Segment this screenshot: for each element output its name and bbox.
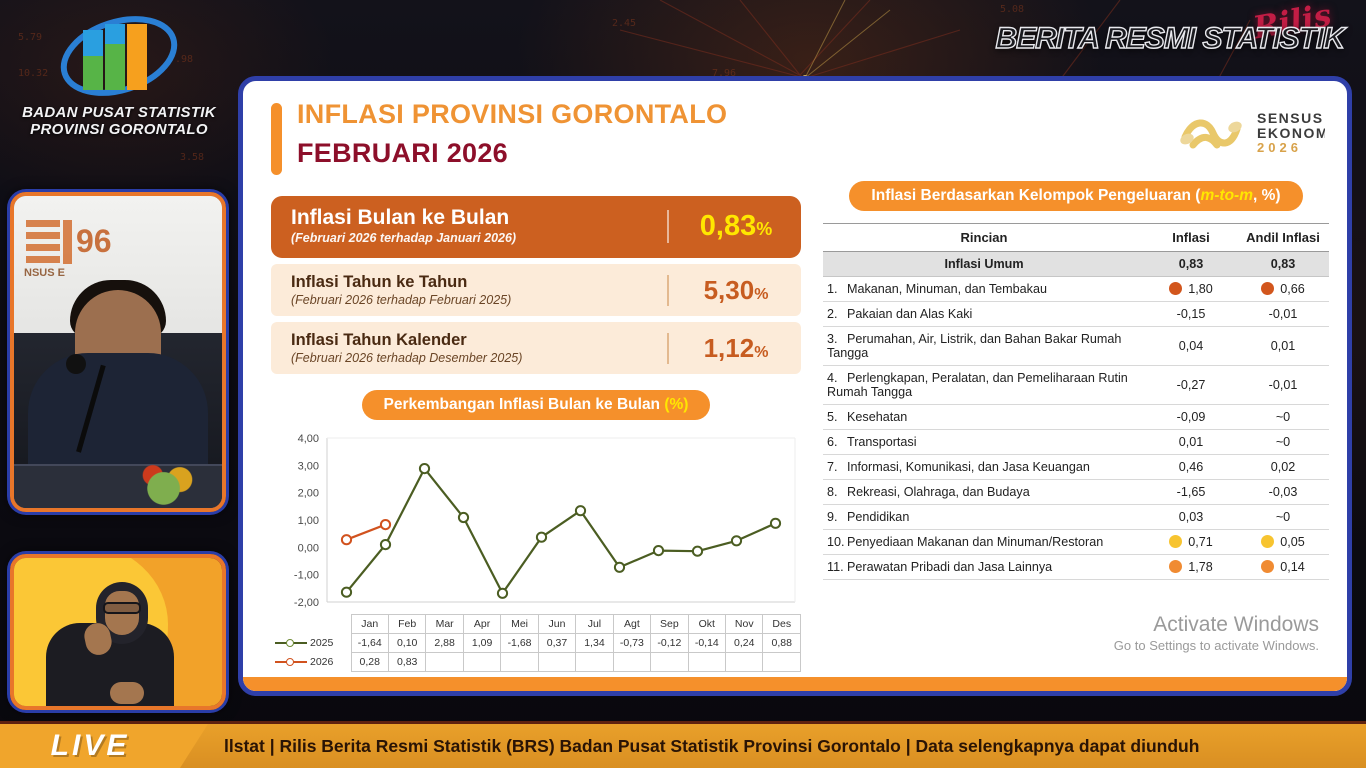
chart-table-month-header: Jul	[576, 615, 613, 634]
chart-data-point-2025	[420, 464, 429, 473]
group-table-row: 11.Perawatan Pribadi dan Jasa Lainnya1,7…	[823, 555, 1329, 580]
group-index: 2.	[827, 307, 847, 321]
column-header-andil: Andil Inflasi	[1237, 224, 1329, 252]
chart-y-tick-label: -2,00	[294, 597, 319, 609]
group-table-row: 8.Rekreasi, Olahraga, dan Budaya-1,65-0,…	[823, 480, 1329, 505]
svg-text:3.58: 3.58	[180, 152, 204, 163]
chart-table-month-header: Mei	[501, 615, 538, 634]
chart-table-cell	[763, 653, 801, 672]
chart-data-point-2025	[342, 588, 351, 597]
kpi-value: 1,12%	[667, 333, 785, 364]
chart-table-cell: 1,34	[576, 634, 613, 653]
live-ticker-bar: LIVE llstat | Rilis Berita Resmi Statist…	[0, 724, 1366, 768]
chart-table-cell: -1,64	[351, 634, 388, 653]
sensus-ekonomi-logo-icon: SENSUS EKONOMI 2026	[1173, 103, 1325, 155]
chart-table-cell: 0,10	[388, 634, 425, 653]
group-table-row: 7.Informasi, Komunikasi, dan Jasa Keuang…	[823, 455, 1329, 480]
sign-language-interpreter-feed[interactable]	[10, 554, 226, 710]
group-inflasi-cell: 1,80	[1145, 277, 1237, 302]
legend-spacer	[271, 615, 351, 634]
group-table-row: 1.Makanan, Minuman, dan Tembakau1,800,66	[823, 277, 1329, 302]
legend-marker-icon	[275, 657, 307, 667]
inflation-indicator-dot	[1169, 560, 1182, 573]
chart-table-series-row: 20260,280,83	[271, 653, 801, 672]
group-inflasi-cell: 0,71	[1145, 530, 1237, 555]
group-inflasi-cell: -0,15	[1145, 302, 1237, 327]
group-andil-cell: ~0	[1237, 430, 1329, 455]
group-inflasi-cell: 0,04	[1145, 327, 1237, 366]
group-andil-cell: ~0	[1237, 505, 1329, 530]
bps-brand-block: BADAN PUSAT STATISTIK PROVINSI GORONTALO	[0, 6, 238, 138]
group-andil-cell: ~0	[1237, 405, 1329, 430]
expenditure-group-table: Rincian Inflasi Andil Inflasi Inflasi Um…	[823, 223, 1329, 580]
live-label: LIVE	[51, 729, 130, 763]
chart-table-cell: 0,24	[726, 634, 763, 653]
group-name-cell: 2.Pakaian dan Alas Kaki	[823, 302, 1145, 327]
chart-y-tick-label: 2,00	[298, 488, 319, 500]
group-name-cell: 11.Perawatan Pribadi dan Jasa Lainnya	[823, 555, 1145, 580]
bps-logo-icon	[53, 10, 185, 102]
group-andil-cell: 0,66	[1237, 277, 1329, 302]
chart-table-cell	[651, 653, 688, 672]
kpi-value: 0,83%	[667, 210, 785, 243]
chart-data-point-2026	[381, 520, 390, 529]
total-inflasi: 0,83	[1145, 252, 1237, 277]
svg-text:2026: 2026	[1257, 140, 1302, 155]
group-table-row: 4.Perlengkapan, Peralatan, dan Pemelihar…	[823, 366, 1329, 405]
group-table-row: 3.Perumahan, Air, Listrik, dan Bahan Bak…	[823, 327, 1329, 366]
svg-text:NSUS E: NSUS E	[24, 267, 65, 279]
chart-y-tick-label: 3,00	[298, 460, 319, 472]
group-name-cell: 3.Perumahan, Air, Listrik, dan Bahan Bak…	[823, 327, 1145, 366]
svg-text:5.08: 5.08	[1000, 4, 1024, 15]
chart-data-point-2025	[498, 589, 507, 598]
chart-y-tick-label: -1,00	[294, 570, 319, 582]
ticker-message: llstat | Rilis Berita Resmi Statistik (B…	[224, 736, 1199, 757]
chart-table-month-header: Apr	[463, 615, 500, 634]
group-index: 5.	[827, 410, 847, 424]
group-index: 4.	[827, 371, 847, 385]
chart-table-series-row: 2025-1,640,102,881,09-1,680,371,34-0,73-…	[271, 634, 801, 653]
group-name-cell: 1.Makanan, Minuman, dan Tembakau	[823, 277, 1145, 302]
group-index: 9.	[827, 510, 847, 524]
chart-data-point-2025	[381, 540, 390, 549]
chart-table-cell	[688, 653, 725, 672]
group-index: 3.	[827, 332, 847, 346]
group-table-total-row: Inflasi Umum0,830,83	[823, 252, 1329, 277]
chart-data-point-2025	[771, 519, 780, 528]
kpi-card-calendar-year: Inflasi Tahun Kalender (Februari 2026 te…	[271, 322, 801, 374]
total-label: Inflasi Umum	[823, 252, 1145, 277]
chart-table-month-header: Feb	[388, 615, 425, 634]
svg-text:EKONOMI: EKONOMI	[1257, 125, 1325, 141]
chart-y-tick-label: 4,00	[298, 433, 319, 445]
chart-table-month-header: Sep	[651, 615, 688, 634]
chart-data-point-2025	[732, 536, 741, 545]
legend-marker-icon	[275, 638, 307, 648]
group-name-cell: 6.Transportasi	[823, 430, 1145, 455]
contribution-indicator-dot	[1261, 560, 1274, 573]
group-index: 10.	[827, 535, 847, 549]
group-inflasi-cell: -0,09	[1145, 405, 1237, 430]
group-andil-cell: -0,01	[1237, 366, 1329, 405]
chart-data-table: JanFebMarAprMeiJunJulAgtSepOktNovDes 202…	[271, 614, 801, 672]
chart-table-month-header: Agt	[613, 615, 650, 634]
table-header-row: JanFebMarAprMeiJunJulAgtSepOktNovDes	[271, 615, 801, 634]
chart-data-point-2025	[615, 563, 624, 572]
kpi-sublabel: (Februari 2026 terhadap Desember 2025)	[291, 351, 522, 365]
chart-table-cell: -0,73	[613, 634, 650, 653]
chart-table-cell: -0,12	[651, 634, 688, 653]
kpi-value: 5,30%	[667, 275, 785, 306]
column-header-rincian: Rincian	[823, 224, 1145, 252]
kpi-card-month-to-month: Inflasi Bulan ke Bulan (Februari 2026 te…	[271, 196, 801, 258]
contribution-indicator-dot	[1261, 282, 1274, 295]
chart-table-cell: 1,09	[463, 634, 500, 653]
program-title: BERITA RESMI STATISTIK	[995, 22, 1344, 56]
chart-table-month-header: Jun	[538, 615, 575, 634]
chart-table-cell	[726, 653, 763, 672]
left-panel: Inflasi Bulan ke Bulan (Februari 2026 te…	[271, 196, 801, 672]
group-index: 8.	[827, 485, 847, 499]
group-table-row: 2.Pakaian dan Alas Kaki-0,15-0,01	[823, 302, 1329, 327]
chart-series-line-2026	[347, 525, 386, 540]
group-andil-cell: -0,03	[1237, 480, 1329, 505]
watermark-subtitle: Go to Settings to activate Windows.	[1114, 638, 1319, 653]
chart-legend-entry: 2026	[271, 653, 351, 672]
group-table-row: 6.Transportasi0,01~0	[823, 430, 1329, 455]
group-name-cell: 10.Penyediaan Makanan dan Minuman/Restor…	[823, 530, 1145, 555]
group-table-header-row: Rincian Inflasi Andil Inflasi	[823, 224, 1329, 252]
chart-table-cell: 0,83	[388, 653, 425, 672]
speaker-video-feed[interactable]: 96 NSUS E	[10, 192, 226, 512]
group-name-cell: 9.Pendidikan	[823, 505, 1145, 530]
broadcast-stage: 5.79 10.32 .98 3.58 2.45 7.96 5.08 BADAN…	[0, 0, 1366, 768]
kpi-sublabel: (Februari 2026 terhadap Februari 2025)	[291, 293, 511, 307]
kpi-label: Inflasi Tahun ke Tahun	[291, 273, 511, 291]
group-andil-cell: 0,05	[1237, 530, 1329, 555]
backdrop-sensus-logo-icon: 96 NSUS E	[22, 212, 132, 282]
contribution-indicator-dot	[1261, 535, 1274, 548]
chart-table-month-header: Des	[763, 615, 801, 634]
chart-table-cell	[613, 653, 650, 672]
brand-line-1: BADAN PUSAT STATISTIK	[0, 104, 238, 121]
windows-activation-watermark: Activate Windows Go to Settings to activ…	[1114, 613, 1319, 653]
group-andil-cell: -0,01	[1237, 302, 1329, 327]
svg-text:96: 96	[76, 223, 112, 259]
group-name-cell: 5.Kesehatan	[823, 405, 1145, 430]
chart-data-point-2025	[654, 546, 663, 555]
title-accent-bar	[271, 103, 282, 175]
chart-title-pill: Perkembangan Inflasi Bulan ke Bulan (%)	[362, 390, 711, 420]
chart-table-cell: 0,37	[538, 634, 575, 653]
inflation-line-chart: 4,003,002,001,000,00-1,00-2,00	[271, 430, 801, 612]
card-bottom-strip	[243, 677, 1347, 691]
group-table-title-pill: Inflasi Berdasarkan Kelompok Pengeluaran…	[849, 181, 1302, 211]
column-header-inflasi: Inflasi	[1145, 224, 1237, 252]
group-table-row: 9.Pendidikan0,03~0	[823, 505, 1329, 530]
svg-text:SENSUS: SENSUS	[1257, 110, 1324, 126]
group-andil-cell: 0,14	[1237, 555, 1329, 580]
chart-table-month-header: Mar	[426, 615, 463, 634]
group-inflasi-cell: 1,78	[1145, 555, 1237, 580]
chart-table-cell: 2,88	[426, 634, 463, 653]
card-title-line-1: INFLASI PROVINSI GORONTALO	[297, 99, 727, 130]
kpi-label: Inflasi Bulan ke Bulan	[291, 207, 516, 229]
chart-data-point-2025	[537, 533, 546, 542]
chart-series-line-2025	[347, 469, 776, 594]
chart-table-cell	[463, 653, 500, 672]
chart-table-cell	[501, 653, 538, 672]
chart-table-cell	[538, 653, 575, 672]
chart-table-cell: 0,28	[351, 653, 388, 672]
group-inflasi-cell: 0,46	[1145, 455, 1237, 480]
chart-data-point-2025	[576, 506, 585, 515]
group-andil-cell: 0,02	[1237, 455, 1329, 480]
chart-table-month-header: Nov	[726, 615, 763, 634]
group-inflasi-cell: 0,03	[1145, 505, 1237, 530]
kpi-sublabel: (Februari 2026 terhadap Januari 2026)	[291, 231, 516, 245]
chart-table-cell: -1,68	[501, 634, 538, 653]
main-content-card: INFLASI PROVINSI GORONTALO FEBRUARI 2026…	[238, 76, 1352, 696]
group-inflasi-cell: -0,27	[1145, 366, 1237, 405]
chart-data-point-2025	[693, 547, 702, 556]
group-name-cell: 8.Rekreasi, Olahraga, dan Budaya	[823, 480, 1145, 505]
group-table-row: 10.Penyediaan Makanan dan Minuman/Restor…	[823, 530, 1329, 555]
group-index: 6.	[827, 435, 847, 449]
chart-data-point-2026	[342, 535, 351, 544]
right-panel: Inflasi Berdasarkan Kelompok Pengeluaran…	[823, 181, 1329, 580]
chart-legend-entry: 2025	[271, 634, 351, 653]
inflation-indicator-dot	[1169, 282, 1182, 295]
legend-label: 2026	[310, 656, 333, 668]
chart-data-point-2025	[459, 513, 468, 522]
kpi-label: Inflasi Tahun Kalender	[291, 331, 522, 349]
live-badge: LIVE	[0, 724, 180, 768]
watermark-title: Activate Windows	[1114, 613, 1319, 637]
total-andil: 0,83	[1237, 252, 1329, 277]
group-table-row: 5.Kesehatan-0,09~0	[823, 405, 1329, 430]
group-name-cell: 4.Perlengkapan, Peralatan, dan Pemelihar…	[823, 366, 1145, 405]
kpi-card-year-on-year: Inflasi Tahun ke Tahun (Februari 2026 te…	[271, 264, 801, 316]
group-index: 1.	[827, 282, 847, 296]
svg-text:2.45: 2.45	[612, 18, 636, 29]
card-title-line-2: FEBRUARI 2026	[297, 138, 508, 169]
legend-label: 2025	[310, 637, 333, 649]
chart-table-cell	[426, 653, 463, 672]
group-name-cell: 7.Informasi, Komunikasi, dan Jasa Keuang…	[823, 455, 1145, 480]
group-index: 7.	[827, 460, 847, 474]
group-inflasi-cell: 0,01	[1145, 430, 1237, 455]
group-inflasi-cell: -1,65	[1145, 480, 1237, 505]
chart-table-cell	[576, 653, 613, 672]
chart-table-cell: 0,88	[763, 634, 801, 653]
brand-line-2: PROVINSI GORONTALO	[0, 121, 238, 138]
chart-table-cell: -0,14	[688, 634, 725, 653]
chart-table-month-header: Jan	[351, 615, 388, 634]
inflation-indicator-dot	[1169, 535, 1182, 548]
chart-y-tick-label: 0,00	[298, 542, 319, 554]
group-andil-cell: 0,01	[1237, 327, 1329, 366]
chart-y-tick-label: 1,00	[298, 515, 319, 527]
chart-table-month-header: Okt	[688, 615, 725, 634]
group-index: 11.	[827, 560, 847, 574]
